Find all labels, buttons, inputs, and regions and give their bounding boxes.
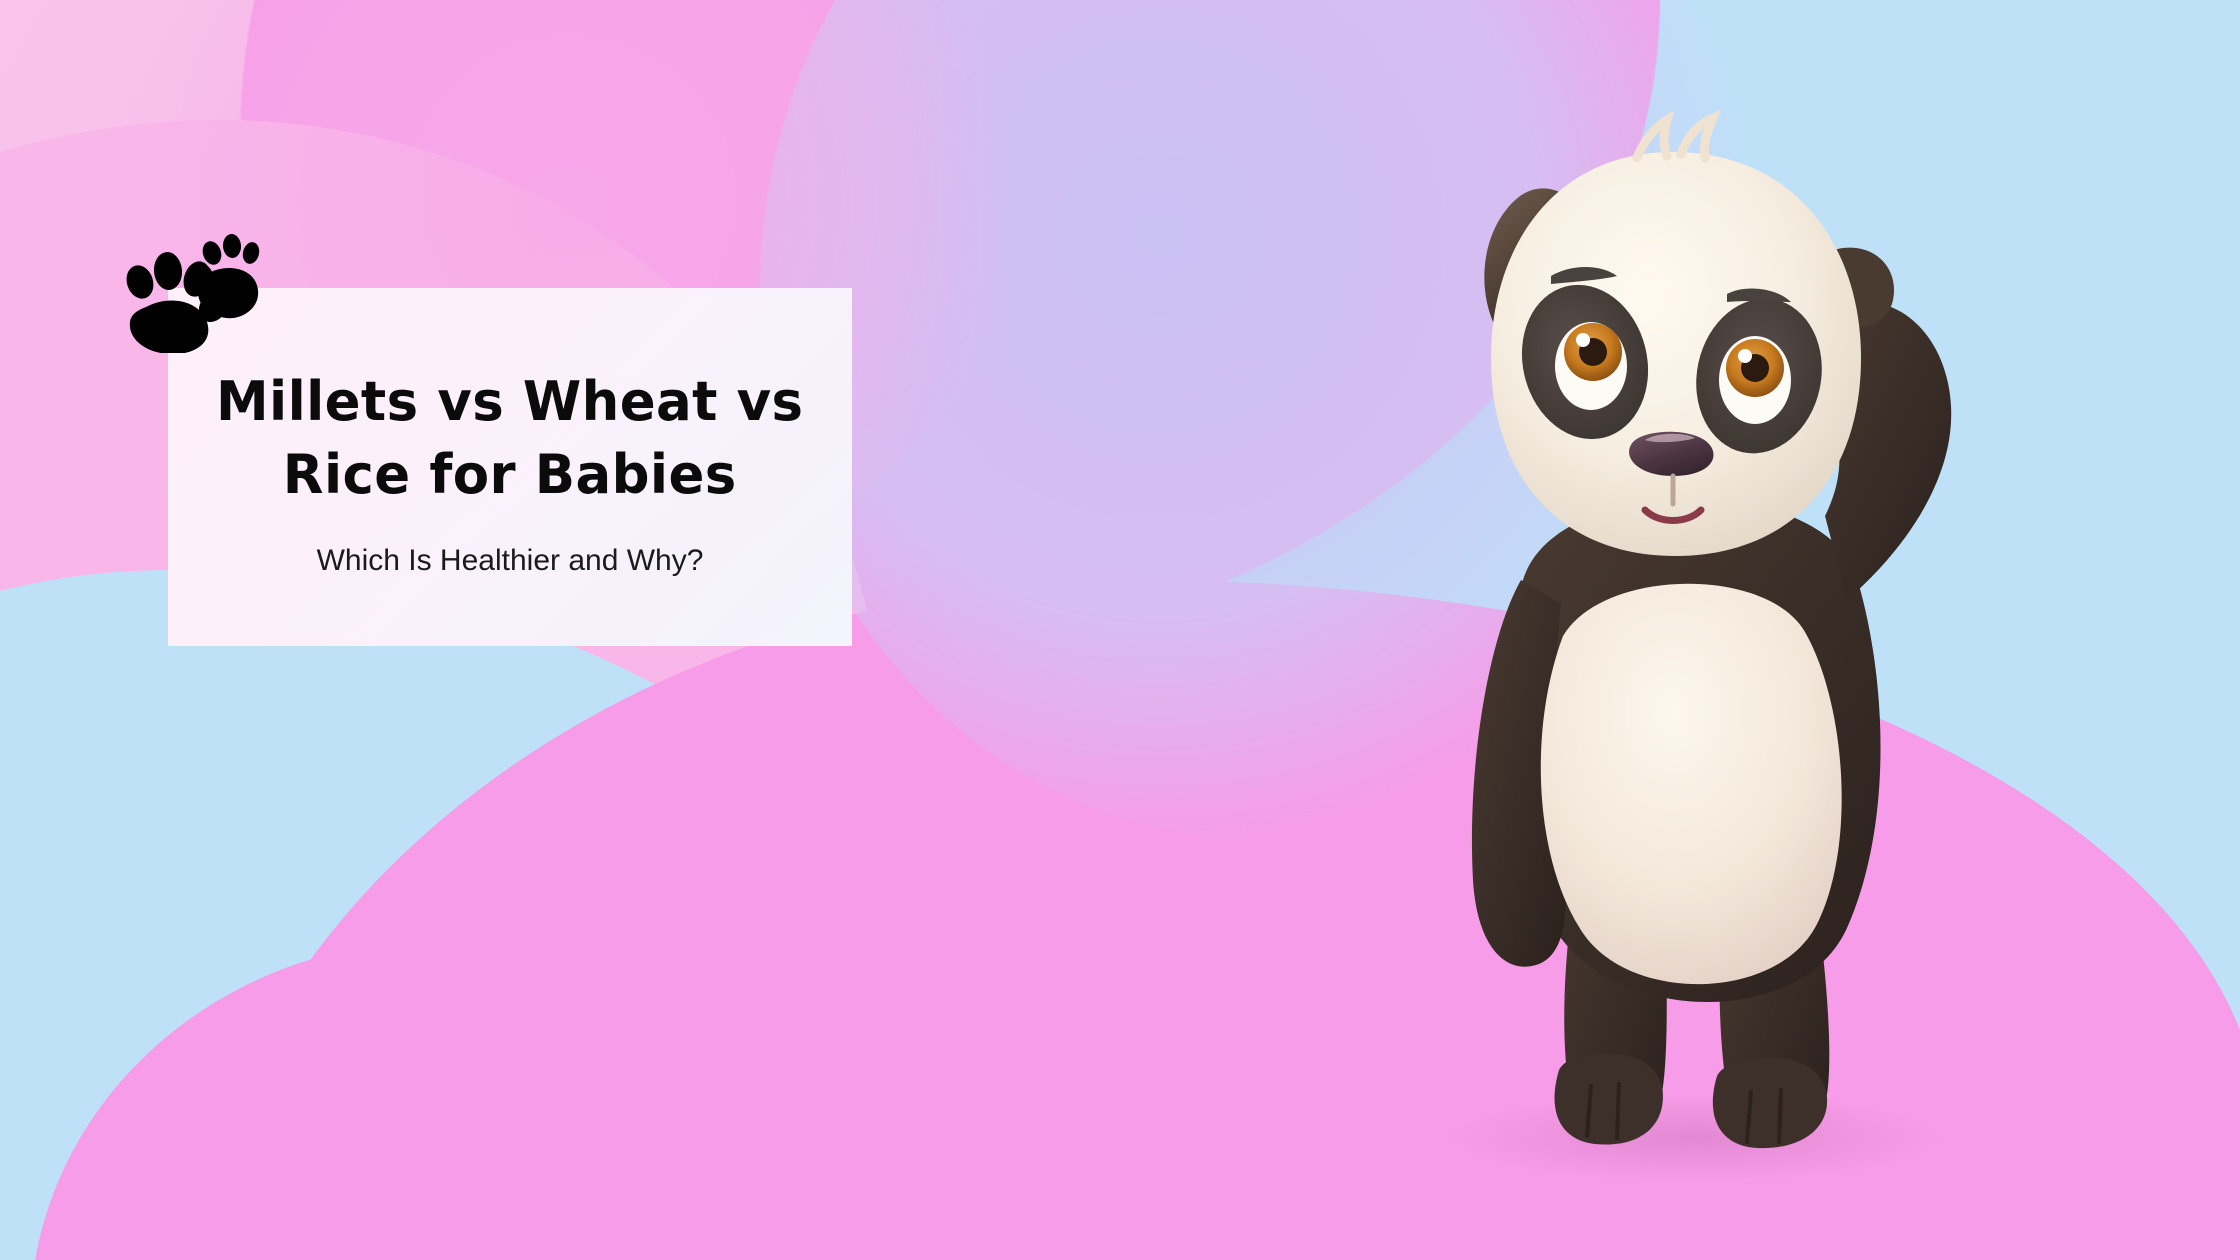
page-title: Millets vs Wheat vs Rice for Babies (216, 366, 803, 511)
panda-ground-shadow (1445, 1094, 1945, 1182)
panda-belly (1541, 584, 1842, 984)
paw-print-large (122, 251, 233, 353)
page-title-line-1: Millets vs Wheat vs (216, 366, 803, 438)
panda-eye-highlight-left (1576, 333, 1590, 347)
panda-head-tuft (1637, 118, 1713, 158)
panda-illustration (1395, 80, 2035, 1200)
page-title-line-2: Rice for Babies (216, 439, 803, 511)
paw-prints-icon (118, 228, 278, 353)
page-subtitle: Which Is Healthier and Why? (317, 541, 704, 580)
panda-eye-highlight-right (1738, 349, 1752, 363)
panda-foot-right (1713, 1058, 1827, 1148)
panda-foot-left (1555, 1054, 1664, 1145)
banner-canvas: Millets vs Wheat vs Rice for Babies Whic… (0, 0, 2240, 1260)
